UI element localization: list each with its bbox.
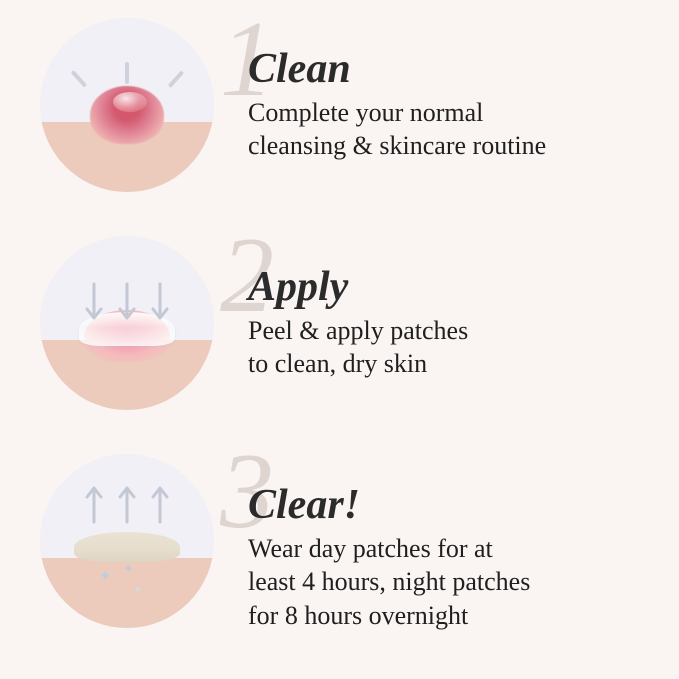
step-3-title: Clear! bbox=[248, 462, 679, 526]
step-1-text: 1 Clean Complete your normal cleansing &… bbox=[220, 18, 679, 163]
arrow-down-icon bbox=[149, 280, 171, 326]
how-to-use-steps: 1 Clean Complete your normal cleansing &… bbox=[0, 0, 679, 679]
step-1: 1 Clean Complete your normal cleansing &… bbox=[0, 18, 679, 236]
irritation-rays bbox=[40, 18, 214, 192]
illustration-circle-apply bbox=[40, 236, 214, 410]
step-3-illustration: ✦ ✦ ✦ bbox=[40, 454, 220, 628]
step-3-description: Wear day patches for at least 4 hours, n… bbox=[248, 532, 679, 632]
step-2: 2 Apply Peel & apply patches to clean, d… bbox=[0, 236, 679, 454]
step-1-illustration bbox=[40, 18, 220, 192]
arrow-up-icon bbox=[116, 480, 138, 526]
absorption-arrows-up bbox=[40, 480, 214, 526]
ray-left-icon bbox=[71, 70, 87, 87]
step-2-text: 2 Apply Peel & apply patches to clean, d… bbox=[220, 236, 679, 381]
step-3: ✦ ✦ ✦ 3 Clear! Wear day patches for at l… bbox=[0, 454, 679, 672]
sparkle-icon: ✦ bbox=[99, 570, 112, 585]
sparkle-icon: ✦ bbox=[133, 585, 142, 596]
step-2-title: Apply bbox=[248, 244, 679, 308]
step-1-description: Complete your normal cleansing & skincar… bbox=[248, 96, 679, 163]
ray-center-icon bbox=[125, 62, 129, 84]
illustration-circle-clear: ✦ ✦ ✦ bbox=[40, 454, 214, 628]
ray-right-icon bbox=[167, 70, 183, 87]
arrow-down-icon bbox=[83, 280, 105, 326]
sparkle-icon: ✦ bbox=[123, 562, 134, 575]
arrow-up-icon bbox=[149, 480, 171, 526]
step-2-illustration bbox=[40, 236, 220, 410]
step-2-description: Peel & apply patches to clean, dry skin bbox=[248, 314, 679, 381]
arrow-up-icon bbox=[83, 480, 105, 526]
step-1-title: Clean bbox=[248, 26, 679, 90]
saturated-patch-icon bbox=[74, 532, 180, 562]
step-3-text: 3 Clear! Wear day patches for at least 4… bbox=[220, 454, 679, 632]
arrow-down-icon bbox=[116, 280, 138, 326]
illustration-circle-clean bbox=[40, 18, 214, 192]
pressure-arrows-down bbox=[40, 280, 214, 326]
